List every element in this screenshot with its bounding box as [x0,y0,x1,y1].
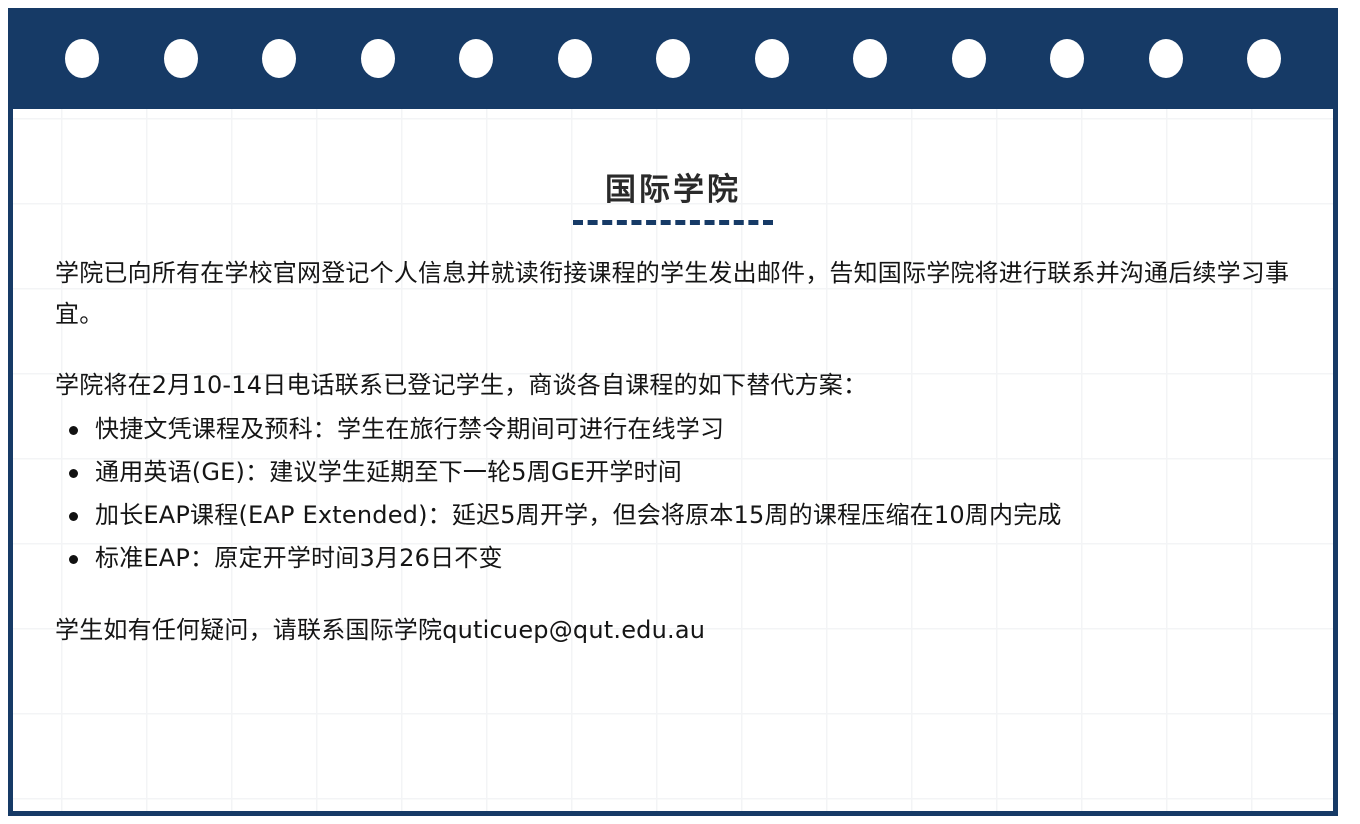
punch-hole-icon [755,39,789,78]
punch-hole-icon [1149,39,1183,78]
punch-hole-icon [1050,39,1084,78]
punch-hole-icon [558,39,592,78]
punch-hole-icon [853,39,887,78]
title-block: 国际学院 [47,109,1299,225]
page-title: 国际学院 [605,171,741,210]
alternative-options-list: 快捷文凭课程及预科：学生在旅行禁令期间可进行在线学习 通用英语(GE)：建议学生… [55,409,1299,580]
punch-hole-icon [656,39,690,78]
punch-hole-icon [164,39,198,78]
title-dashed-rule [573,220,773,225]
list-item: 通用英语(GE)：建议学生延期至下一轮5周GE开学时间 [55,452,1299,493]
list-item: 快捷文凭课程及预科：学生在旅行禁令期间可进行在线学习 [55,409,1299,450]
card-header-band [13,8,1333,109]
list-item: 标准EAP：原定开学时间3月26日不变 [55,538,1299,579]
punch-hole-icon [1247,39,1281,78]
lead-paragraph: 学院将在2月10-14日电话联系已登记学生，商谈各自课程的如下替代方案： [55,365,1299,406]
notice-card: 国际学院 学院已向所有在学校官网登记个人信息并就读衔接课程的学生发出邮件，告知国… [8,8,1338,816]
punch-hole-icon [459,39,493,78]
punch-hole-icon [262,39,296,78]
grid-paper-sheet: 国际学院 学院已向所有在学校官网登记个人信息并就读衔接课程的学生发出邮件，告知国… [13,109,1333,811]
closing-paragraph: 学生如有任何疑问，请联系国际学院quticuep@qut.edu.au [55,610,1299,651]
notice-content: 学院已向所有在学校官网登记个人信息并就读衔接课程的学生发出邮件，告知国际学院将进… [47,253,1299,651]
punch-hole-icon [952,39,986,78]
punch-hole-icon [65,39,99,78]
list-item: 加长EAP课程(EAP Extended)：延迟5周开学，但会将原本15周的课程… [55,495,1299,536]
intro-paragraph: 学院已向所有在学校官网登记个人信息并就读衔接课程的学生发出邮件，告知国际学院将进… [55,253,1299,336]
notice-card-page: 国际学院 学院已向所有在学校官网登记个人信息并就读衔接课程的学生发出邮件，告知国… [0,0,1360,824]
punch-hole-icon [361,39,395,78]
